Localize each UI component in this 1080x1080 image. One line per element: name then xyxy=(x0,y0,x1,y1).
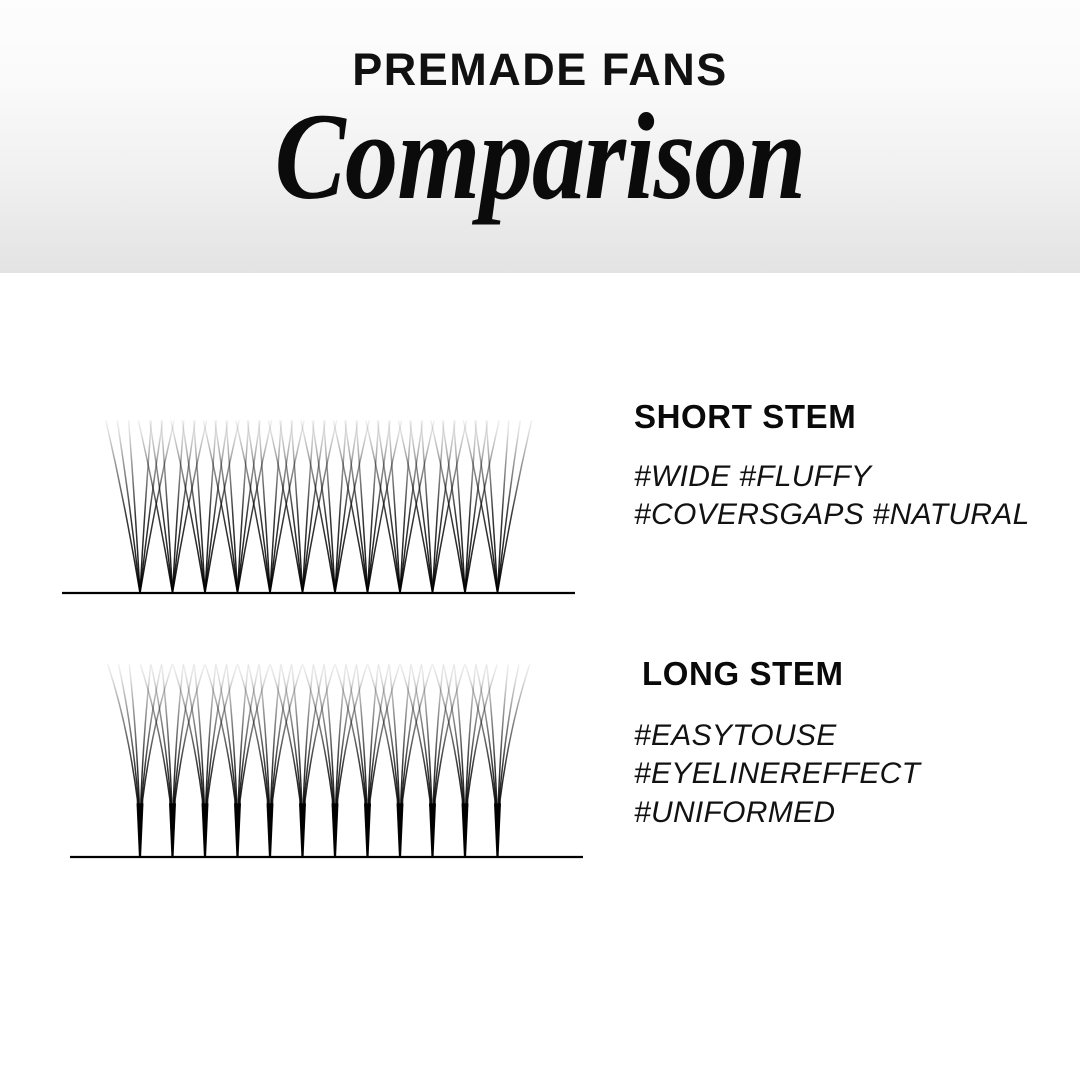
lash-fan xyxy=(108,665,172,857)
lash-stem-root xyxy=(202,803,209,857)
lash-stem-root xyxy=(137,803,144,857)
lash-strand xyxy=(345,421,368,593)
lash-fan-group xyxy=(106,421,532,593)
lash-strand xyxy=(270,421,293,593)
lash-strand xyxy=(226,421,237,593)
long-stem-lash-diagram xyxy=(46,655,606,875)
lash-strand xyxy=(389,421,400,593)
header: PREMADE FANS Comparison xyxy=(0,0,1080,219)
lash-strand xyxy=(247,421,270,593)
lash-strand xyxy=(238,421,249,593)
page-title: Comparison xyxy=(76,93,1005,219)
lash-strand xyxy=(335,421,346,593)
long-stem-text-block: LONG STEM #EASYTOUSE #EYELINEREFFECT #UN… xyxy=(634,655,920,832)
lash-strand xyxy=(140,421,163,593)
lash-strand xyxy=(410,421,433,593)
long-stem-hashtags: #EASYTOUSE #EYELINEREFFECT #UNIFORMED xyxy=(634,693,920,832)
short-stem-lash-diagram xyxy=(46,398,606,618)
lash-strand xyxy=(140,421,151,593)
lash-stem-root xyxy=(429,803,436,857)
lash-strand xyxy=(465,421,476,593)
lash-strand xyxy=(182,421,205,593)
lash-fan xyxy=(401,665,465,857)
lash-strand xyxy=(270,421,281,593)
lash-strand xyxy=(161,421,172,593)
lash-strand xyxy=(312,421,335,593)
lash-strand xyxy=(377,421,400,593)
lash-strand xyxy=(465,421,488,593)
lash-fan xyxy=(206,665,270,857)
lash-stem-root xyxy=(494,803,501,857)
lash-strand xyxy=(173,421,184,593)
lash-strand xyxy=(400,421,423,593)
lash-stem-root xyxy=(267,803,274,857)
lash-strand xyxy=(129,421,140,593)
long-stem-heading: LONG STEM xyxy=(634,655,920,693)
lash-stem-root xyxy=(299,803,306,857)
lash-strand xyxy=(335,421,358,593)
lash-fan xyxy=(173,665,237,857)
long-stem-lash-diagram-svg xyxy=(46,655,606,870)
short-stem-heading: SHORT STEM xyxy=(634,398,1030,436)
lash-strand xyxy=(150,421,173,593)
lash-strand xyxy=(498,421,509,593)
lash-strand xyxy=(259,421,270,593)
lash-strand xyxy=(433,421,444,593)
lash-stem-root xyxy=(397,803,404,857)
lash-stem-root xyxy=(234,803,241,857)
lash-strand xyxy=(215,421,238,593)
short-stem-text-block: SHORT STEM #WIDE #FLUFFY #COVERSGAPS #NA… xyxy=(634,398,1030,535)
short-stem-lash-diagram-svg xyxy=(46,398,606,613)
lash-strand xyxy=(442,421,465,593)
lash-strand xyxy=(486,421,497,593)
short-stem-hashtags: #WIDE #FLUFFY #COVERSGAPS #NATURAL xyxy=(634,436,1030,535)
lash-strand xyxy=(303,421,314,593)
lash-strand xyxy=(433,421,456,593)
lash-strand xyxy=(117,421,140,593)
lash-fan xyxy=(141,665,205,857)
lash-strand xyxy=(368,421,391,593)
lash-strand xyxy=(205,421,228,593)
page-kicker: PREMADE FANS xyxy=(0,0,1080,93)
lash-strand xyxy=(368,421,379,593)
lash-stem-root xyxy=(169,803,176,857)
lash-strand xyxy=(238,421,261,593)
lash-strand xyxy=(421,421,432,593)
lash-fan xyxy=(368,665,432,857)
lash-strand xyxy=(356,421,367,593)
lash-stem-root xyxy=(364,803,371,857)
lash-fan-group xyxy=(108,665,530,857)
lash-strand xyxy=(173,421,196,593)
lash-strand xyxy=(280,421,303,593)
lash-strand xyxy=(324,421,335,593)
lash-strand xyxy=(400,421,411,593)
lash-stem-root xyxy=(332,803,339,857)
lash-strand xyxy=(194,421,205,593)
lash-fan xyxy=(336,665,400,857)
lash-fan xyxy=(271,665,335,857)
lash-strand xyxy=(205,421,216,593)
lash-strand xyxy=(475,421,498,593)
lash-stem-root xyxy=(462,803,469,857)
lash-strand xyxy=(454,421,465,593)
lash-fan xyxy=(466,665,530,857)
lash-strand xyxy=(291,421,302,593)
lash-strand xyxy=(303,421,326,593)
lash-fan xyxy=(433,665,497,857)
lash-strand xyxy=(498,421,521,593)
lash-fan xyxy=(303,665,367,857)
lash-fan xyxy=(238,665,302,857)
